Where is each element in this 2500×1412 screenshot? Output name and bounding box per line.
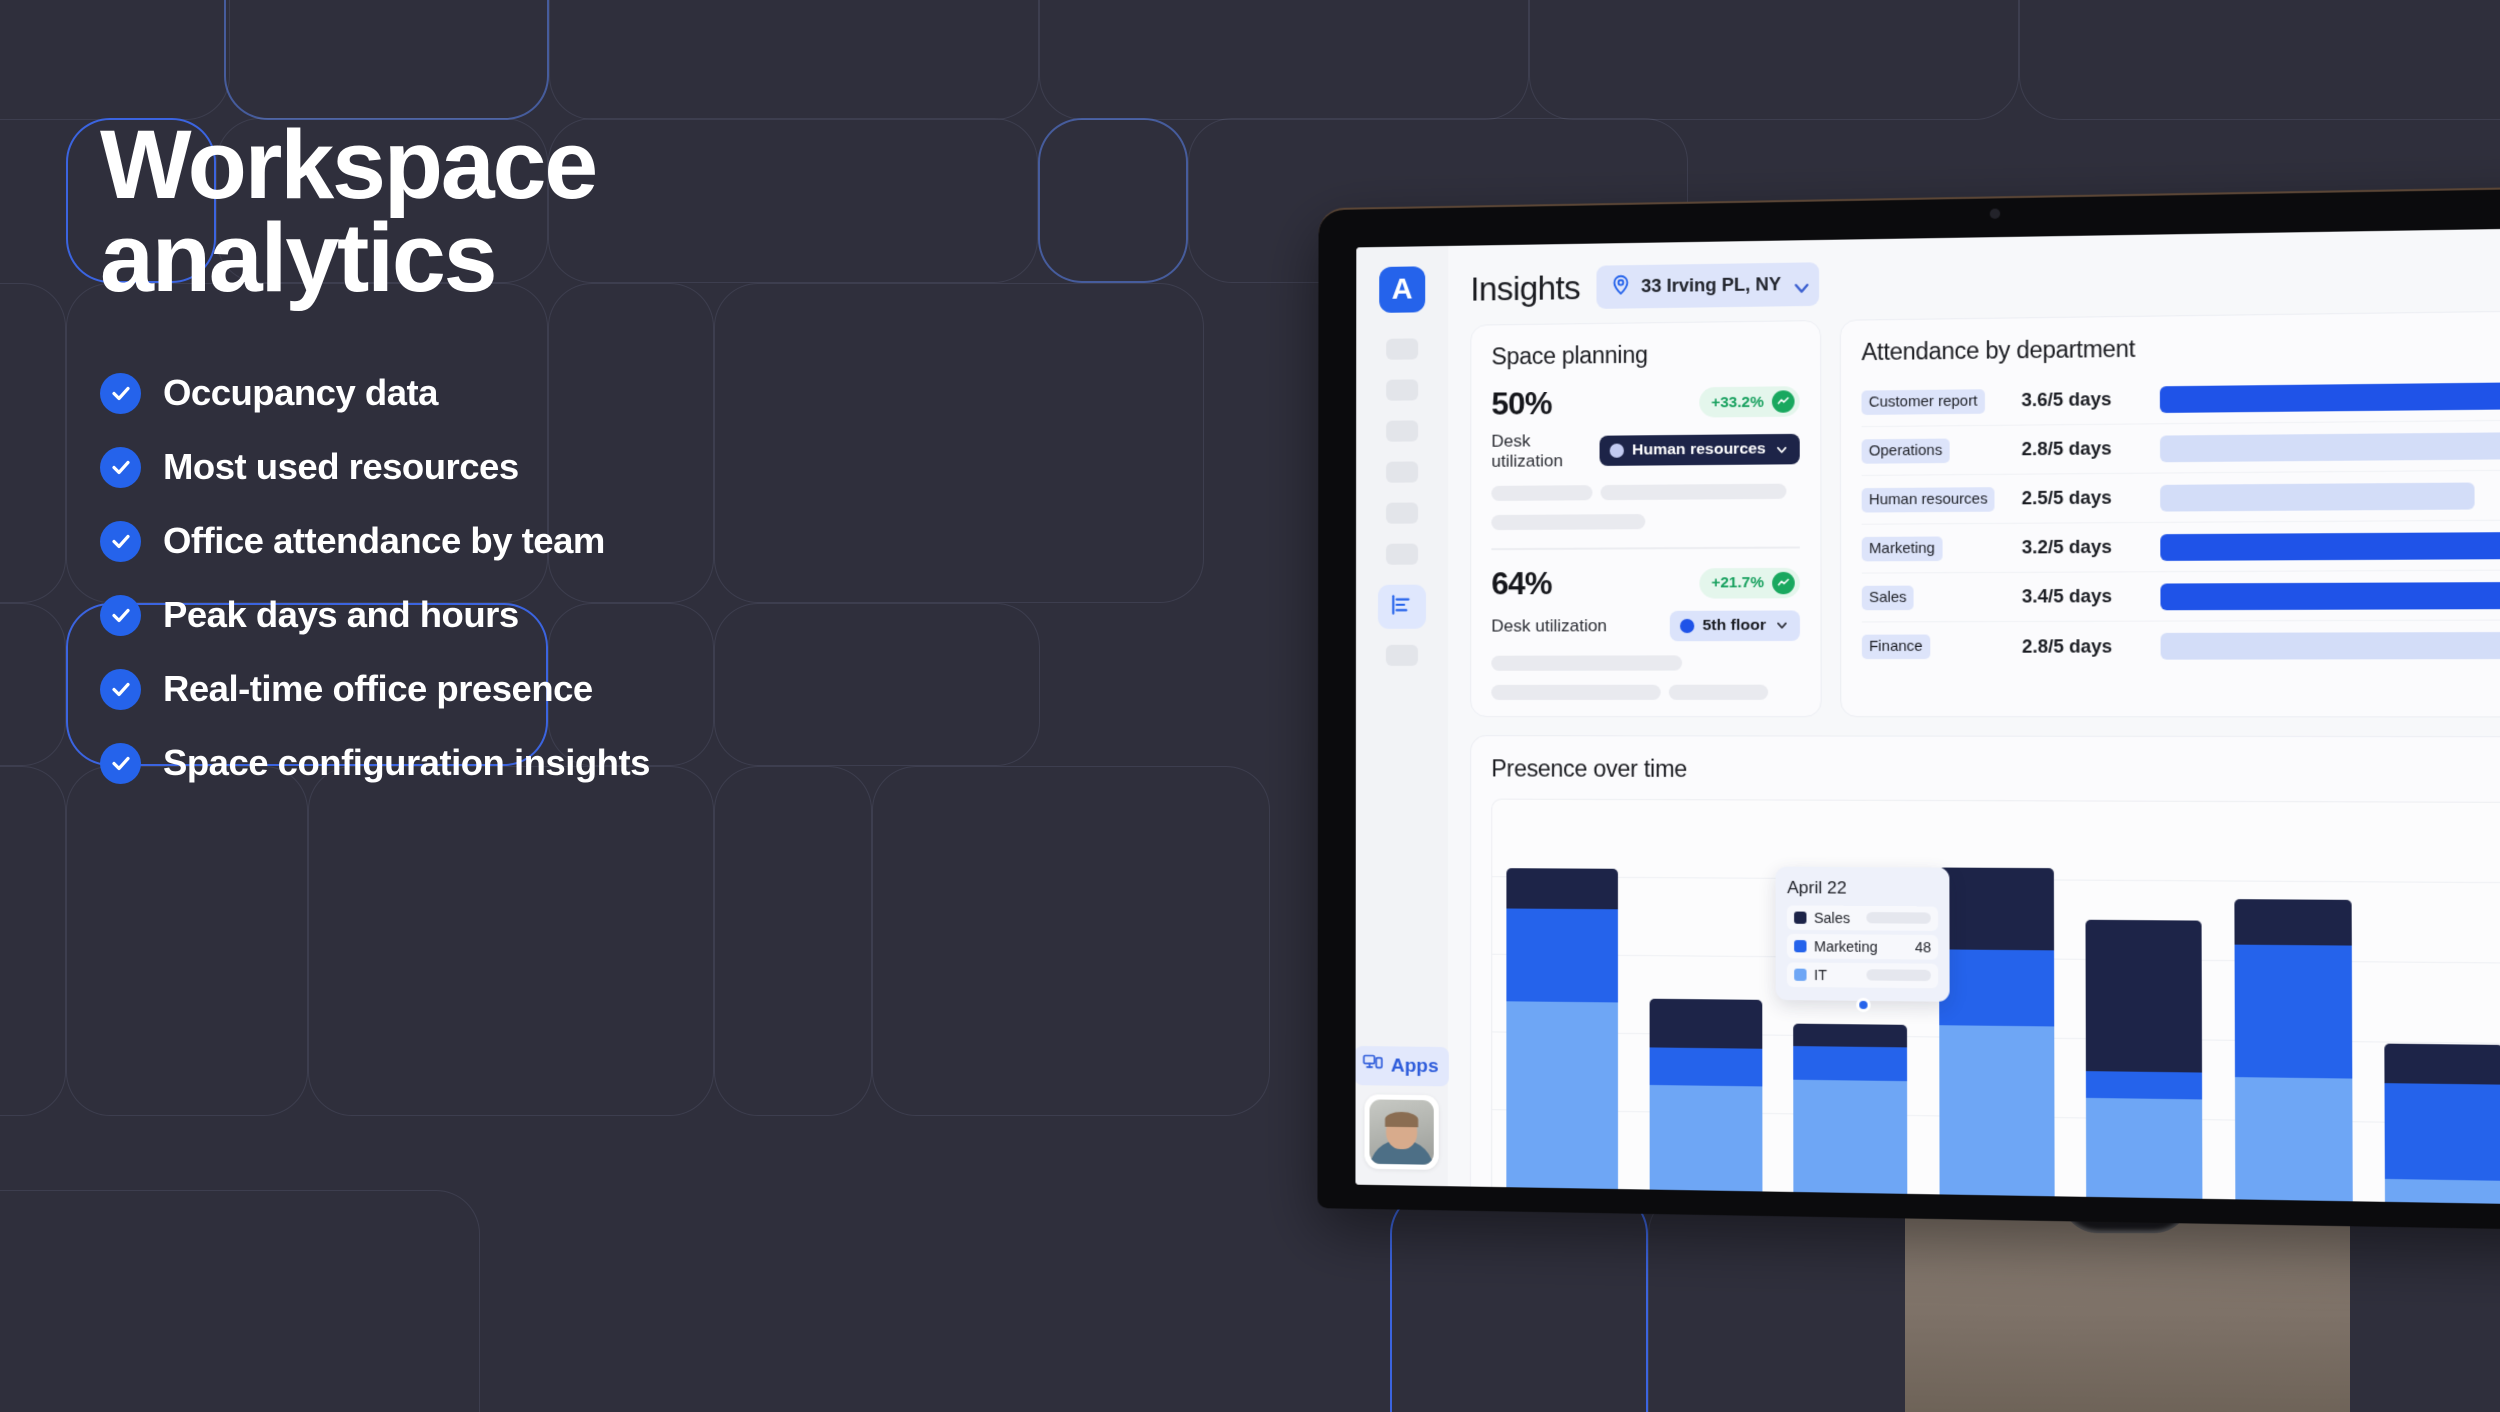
map-pin-icon (1610, 273, 1632, 301)
department-chip: Customer report (1862, 389, 1985, 415)
bar-fill (2160, 531, 2500, 560)
department-selector[interactable]: Human resources (1600, 434, 1800, 466)
bar-segment-it (1649, 1085, 1762, 1191)
sidebar-item-placeholder[interactable] (1386, 379, 1418, 400)
metric-label: Desk utilization (1491, 616, 1607, 636)
card-title: Attendance by department (1861, 329, 2500, 367)
bar-fill (2160, 581, 2500, 610)
sidebar-item-placeholder[interactable] (1386, 645, 1418, 666)
monitor-frame: A (1317, 184, 2500, 1233)
page-title: Workspace analytics (100, 118, 860, 304)
list-item: Peak days and hours (100, 578, 860, 652)
stacked-bar[interactable] (2384, 1044, 2500, 1204)
grid-cell (1039, 0, 1529, 120)
skeleton-value (1867, 970, 1931, 982)
status-badge: +33.2% (1699, 386, 1800, 417)
metric-value: 50% (1491, 386, 1551, 423)
list-item: Real-time office presence (100, 652, 860, 726)
grid-cell (549, 0, 1039, 120)
apps-button[interactable]: Apps (1355, 1046, 1448, 1086)
card-title: Space planning (1491, 340, 1799, 371)
grid-cell (872, 766, 1270, 1116)
legend-label: Marketing (1814, 938, 1878, 955)
table-row: Sales 3.4/5 days (1862, 570, 2500, 623)
skeleton-bar (1491, 655, 1682, 670)
tooltip-row: Marketing 48 (1787, 934, 1938, 960)
trend-up-icon (1772, 390, 1795, 413)
grid-cell (1648, 1190, 1938, 1412)
grid-cell-highlight (1390, 1190, 1648, 1412)
feature-label: Occupancy data (163, 372, 438, 414)
grid-cell (66, 766, 308, 1116)
grid-cell (0, 603, 66, 766)
chart-hover-point (1856, 998, 1871, 1012)
department-chip: Finance (1862, 635, 1930, 660)
grid-cell (2019, 0, 2500, 120)
feature-label: Peak days and hours (163, 594, 519, 636)
feature-label: Real-time office presence (163, 668, 593, 710)
screen: A (1355, 226, 2500, 1207)
department-chip: Human resources (1862, 487, 1995, 512)
tooltip-row: IT (1787, 962, 1938, 988)
attendance-value: 3.2/5 days (2022, 536, 2146, 558)
bar-segment-marketing (1506, 908, 1618, 1002)
bar-segment-marketing (1649, 1047, 1762, 1086)
avatar[interactable] (1364, 1094, 1438, 1170)
bar-track (2161, 632, 2500, 660)
stacked-bar-highlighted[interactable] (1793, 1024, 1908, 1194)
bar-segment-sales (2384, 1044, 2500, 1085)
bar-track (2160, 581, 2500, 610)
promo-screenshot: Workspace analytics Occupancy data Most … (0, 0, 2500, 1412)
table-row: Finance 2.8/5 days (1862, 620, 2500, 671)
location-label: 33 Irving PL, NY (1641, 274, 1781, 297)
chevron-down-icon (1774, 442, 1789, 457)
attendance-value: 2.5/5 days (2022, 487, 2146, 509)
metric-subrow: Desk utilization 5th floor (1491, 610, 1800, 641)
check-circle-icon (100, 521, 141, 562)
check-circle-icon (100, 373, 141, 414)
stacked-bar[interactable] (1938, 868, 2054, 1197)
skeleton-bar (1491, 514, 1644, 530)
hero-pane: Workspace analytics Occupancy data Most … (100, 118, 860, 800)
headline-line-2: analytics (100, 211, 860, 304)
devices-icon (1363, 1052, 1384, 1079)
bar-segment-sales (1793, 1024, 1907, 1048)
grid-cell (224, 0, 549, 120)
attendance-table: Customer report 3.6/5 days Operations 2.… (1861, 369, 2500, 671)
presence-card: Presence over time Week Day (1470, 735, 2500, 1207)
list-item: Space configuration insights (100, 726, 860, 800)
stacked-bar[interactable] (2085, 920, 2202, 1199)
check-circle-icon (100, 447, 141, 488)
skeleton-row (1491, 684, 1800, 699)
list-item: Office attendance by team (100, 504, 860, 578)
color-swatch (1610, 444, 1624, 458)
legend-swatch-marketing (1794, 940, 1806, 952)
grid-cell (0, 766, 66, 1116)
bar-segment-marketing (2384, 1083, 2500, 1181)
attendance-card: Attendance by department Customer report… (1840, 308, 2500, 717)
bar-fill (2160, 482, 2474, 511)
department-chip: Marketing (1862, 536, 1943, 561)
legend-swatch-it (1794, 968, 1806, 980)
bar-segment-marketing (2234, 945, 2352, 1079)
floor-selector[interactable]: 5th floor (1670, 610, 1800, 641)
bar-segment-sales (2234, 899, 2352, 945)
insights-chart-icon (1389, 591, 1415, 622)
bar-fill (2160, 380, 2500, 412)
delta-value: +21.7% (1711, 574, 1764, 591)
metric-label: Desk utilization (1491, 431, 1599, 472)
check-circle-icon (100, 669, 141, 710)
selector-label: 5th floor (1702, 616, 1766, 634)
sidebar-item-placeholder[interactable] (1386, 420, 1418, 441)
bar-segment-it (2234, 1077, 2352, 1201)
feature-label: Most used resources (163, 446, 519, 488)
bar-fill (2161, 632, 2500, 660)
grid-cell (0, 0, 230, 120)
stacked-bar[interactable] (1506, 868, 1618, 1189)
bar-segment-marketing (1793, 1046, 1907, 1081)
bar-track (2160, 380, 2500, 412)
skeleton-row (1491, 655, 1800, 671)
sidebar-footer: Apps (1355, 1046, 1448, 1170)
space-planning-card: Space planning 50% +33.2% (1470, 320, 1822, 717)
stacked-bar[interactable] (1649, 999, 1762, 1192)
bar-segment-it (1793, 1080, 1908, 1194)
feature-list: Occupancy data Most used resources Offic… (100, 356, 860, 800)
grid-cell (0, 1190, 480, 1412)
page-heading: Insights (1470, 268, 1580, 308)
apps-label: Apps (1391, 1055, 1439, 1078)
table-row: Human resources 2.5/5 days (1862, 470, 2500, 525)
attendance-value: 3.4/5 days (2022, 586, 2146, 608)
bar-segment-sales (1938, 868, 2054, 951)
feature-label: Space configuration insights (163, 742, 650, 784)
skeleton-bar (1601, 484, 1787, 501)
presence-header: Presence over time Week Day (1491, 752, 2500, 789)
check-circle-icon (100, 743, 141, 784)
sidebar-item-placeholder[interactable] (1386, 461, 1418, 482)
trend-up-icon (1772, 571, 1795, 593)
grid-cell (1529, 0, 2019, 120)
bar-fill (2160, 432, 2500, 462)
delta-value: +33.2% (1711, 393, 1764, 411)
camera-icon (1990, 209, 2000, 219)
table-row: Operations 2.8/5 days (1862, 419, 2500, 476)
sidebar-item-placeholder[interactable] (1386, 544, 1418, 565)
skeleton-value (1867, 912, 1931, 924)
avatar-image (1369, 1099, 1433, 1164)
legend-value: 48 (1915, 939, 1931, 956)
sidebar-item-placeholder[interactable] (1386, 502, 1418, 523)
list-item: Occupancy data (100, 356, 860, 430)
bar-track (2160, 430, 2500, 461)
grid-cell (1038, 118, 1188, 283)
stacked-bar[interactable] (2234, 899, 2353, 1201)
card-title: Presence over time (1491, 755, 1687, 783)
presence-chart: April 22 Sales Marketing 48 (1491, 798, 2500, 1207)
selector-label: Human resources (1632, 440, 1766, 459)
chevron-down-icon (1790, 277, 1805, 292)
bar-track (2160, 481, 2500, 512)
sidebar-item-placeholder[interactable] (1386, 338, 1418, 359)
bar-segment-marketing (2086, 1071, 2203, 1099)
bar-segment-it (1506, 1001, 1618, 1189)
app-main: Insights 33 Irving PL, NY (1448, 226, 2500, 1207)
list-item: Most used resources (100, 430, 860, 504)
metric-subrow: Desk utilization Human resources (1491, 429, 1799, 472)
tooltip-title: April 22 (1787, 878, 1938, 899)
feature-label: Office attendance by team (163, 520, 605, 562)
chart-bars (1492, 799, 2500, 1207)
skeleton-bar (1491, 485, 1592, 501)
monitor-stand (1905, 1203, 2350, 1412)
sidebar-item-insights[interactable] (1378, 585, 1426, 629)
tooltip-row: Sales (1787, 905, 1938, 931)
attendance-value: 2.8/5 days (2022, 636, 2146, 658)
check-circle-icon (100, 595, 141, 636)
chart-tooltip: April 22 Sales Marketing 48 (1776, 866, 1950, 1001)
location-selector[interactable]: 33 Irving PL, NY (1596, 262, 1819, 309)
bar-track (2160, 531, 2500, 561)
status-badge: +21.7% (1699, 567, 1800, 598)
skeleton-row (1491, 484, 1799, 501)
bar-segment-it (2385, 1179, 2500, 1204)
chevron-down-icon (1774, 618, 1789, 633)
skeleton-bar (1668, 684, 1767, 699)
grid-cell (0, 283, 66, 603)
app-sidebar: A (1355, 246, 1448, 1186)
space-planning-block: 64% +21.7% Desk utilizati (1491, 548, 1800, 699)
skeleton-bar (1491, 684, 1660, 699)
attendance-value: 2.8/5 days (2022, 438, 2146, 461)
space-planning-block: 50% +33.2% Desk utilizati (1491, 367, 1799, 530)
analytics-app: A (1355, 226, 2500, 1207)
department-chip: Operations (1862, 438, 1950, 463)
bar-segment-marketing (1939, 949, 2055, 1026)
cards-row: Space planning 50% +33.2% (1448, 298, 2500, 717)
attendance-value: 3.6/5 days (2021, 389, 2145, 412)
table-row: Customer report 3.6/5 days (1861, 369, 2500, 427)
skeleton-row (1491, 513, 1799, 530)
bar-segment-it (2086, 1098, 2203, 1199)
bar-segment-it (1939, 1025, 2055, 1196)
department-chip: Sales (1862, 585, 1914, 610)
grid-cell (308, 766, 714, 1116)
legend-label: IT (1814, 967, 1827, 983)
bar-segment-sales (2085, 920, 2202, 1073)
color-swatch (1680, 618, 1694, 632)
metric-header: 64% +21.7% (1491, 564, 1800, 602)
bar-segment-sales (1649, 999, 1762, 1049)
table-row: Marketing 3.2/5 days (1862, 520, 2500, 574)
app-logo[interactable]: A (1379, 266, 1425, 313)
grid-cell (714, 766, 872, 1116)
avatar-hair (1385, 1111, 1418, 1127)
metric-value: 64% (1491, 565, 1551, 601)
bar-segment-sales (1506, 868, 1618, 909)
legend-swatch-sales (1794, 911, 1806, 923)
metric-header: 50% +33.2% (1491, 383, 1799, 423)
legend-label: Sales (1814, 909, 1850, 926)
